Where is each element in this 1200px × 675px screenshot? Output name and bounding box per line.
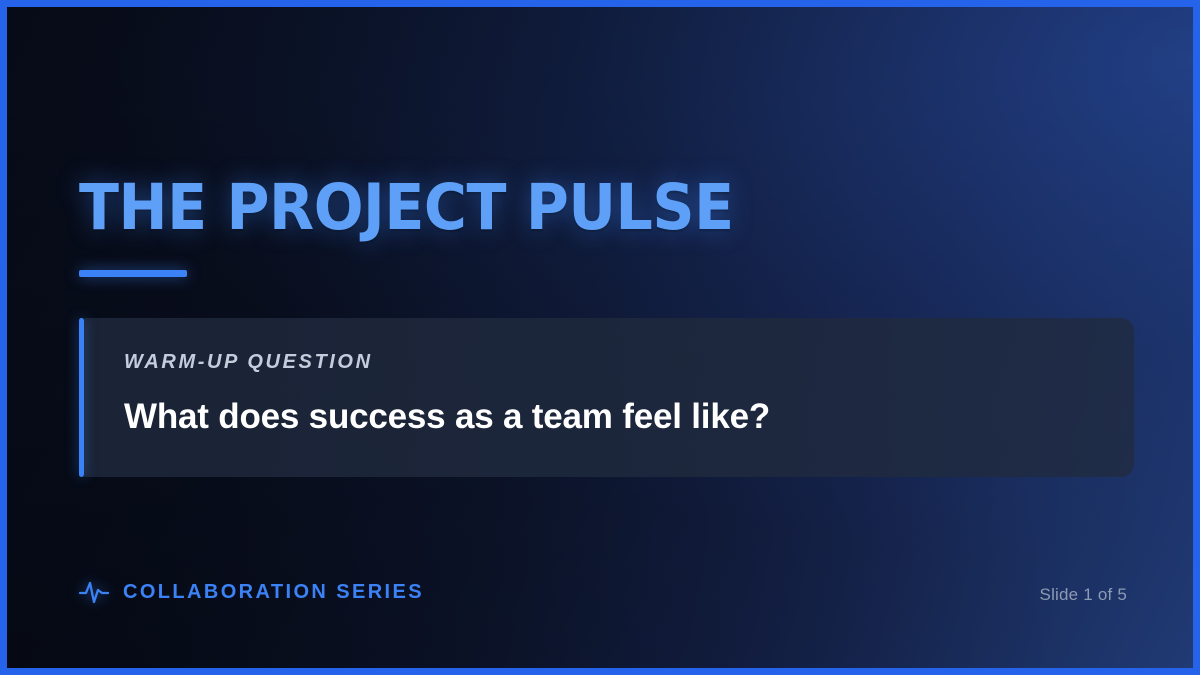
series-label: COLLABORATION SERIES xyxy=(123,581,424,604)
question-eyebrow-label: WARM-UP QUESTION xyxy=(124,351,770,374)
question-prompt: What does success as a team feel like? xyxy=(124,399,770,434)
question-card-text: WARM-UP QUESTION What does success as a … xyxy=(124,351,770,434)
page-title: THE PROJECT PULSE xyxy=(79,176,734,239)
slide-counter: Slide 1 of 5 xyxy=(1040,585,1127,605)
presentation-slide: THE PROJECT PULSE WARM-UP QUESTION What … xyxy=(0,0,1200,675)
question-card: WARM-UP QUESTION What does success as a … xyxy=(79,318,1134,477)
slide-content: THE PROJECT PULSE WARM-UP QUESTION What … xyxy=(7,7,1193,668)
title-accent-rule xyxy=(79,270,187,277)
question-card-accent-bar xyxy=(79,318,84,477)
footer-series: COLLABORATION SERIES xyxy=(79,579,424,605)
pulse-icon xyxy=(79,579,109,605)
